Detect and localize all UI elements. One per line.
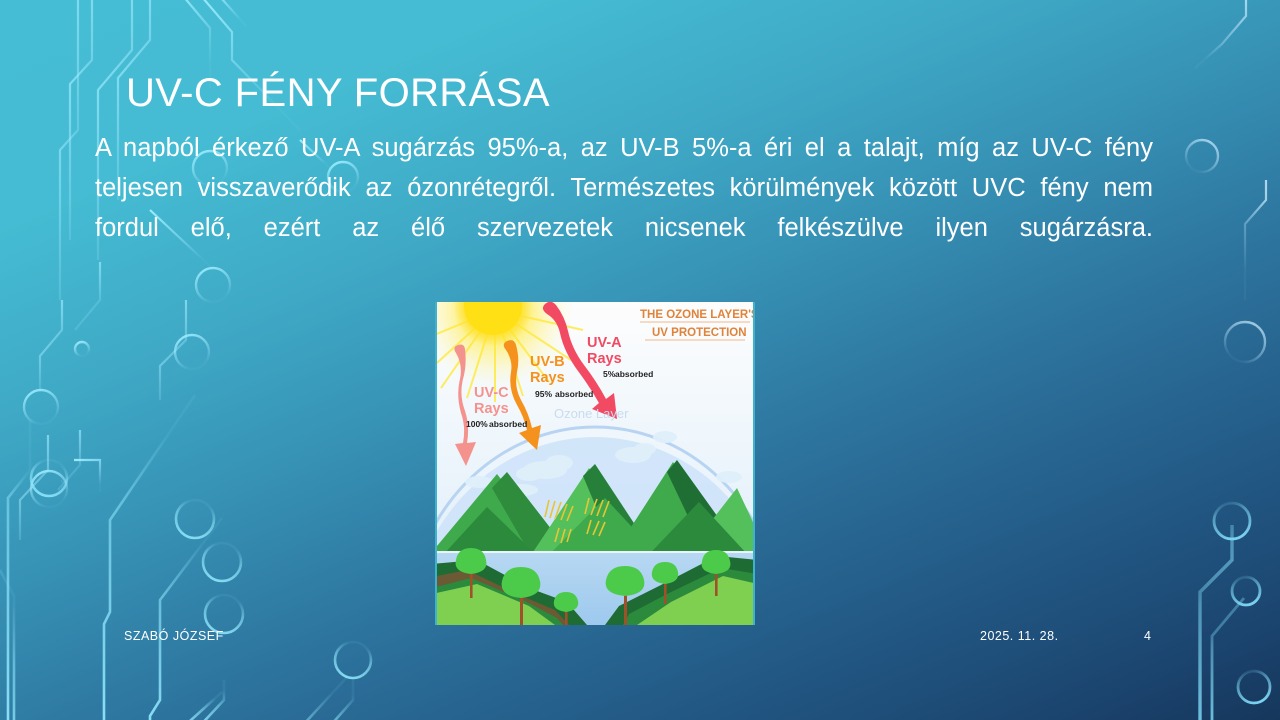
ozone-layer-label: Ozone Layer xyxy=(554,406,629,421)
uv-a-label-line2: Rays xyxy=(587,351,622,367)
ozone-diagram-svg: UV-C Rays 100% absorbed UV-B Rays 95% ab… xyxy=(437,302,753,625)
circuit-trace xyxy=(282,676,348,720)
uv-a-absorbed-word: absorbed xyxy=(615,369,653,379)
diagram-heading-line2: UV PROTECTION xyxy=(652,327,747,339)
uv-c-absorbed-value: 100% xyxy=(466,419,488,429)
ozone-layer-illustration: UV-C Rays 100% absorbed UV-B Rays 95% ab… xyxy=(435,302,755,625)
circuit-traces-top-right xyxy=(1195,0,1272,420)
circuit-trace xyxy=(300,678,353,720)
circuit-node xyxy=(335,642,371,678)
uv-a-absorbed-value: 5% xyxy=(603,369,616,379)
slide: UV-C fény forrása A napból érkező UV-A s… xyxy=(0,0,1280,720)
uv-b-absorbed-word: absorbed xyxy=(555,389,593,399)
circuit-nodes-top-right xyxy=(1186,140,1265,362)
footer-page-number: 4 xyxy=(1144,629,1151,643)
circuit-traces-bottom-left xyxy=(0,390,353,720)
uv-c-label-line2: Rays xyxy=(474,401,509,417)
page-title: UV-C fény forrása xyxy=(126,70,1146,116)
footer-author: SZABÓ JÓZSEF xyxy=(124,629,224,643)
circuit-traces-bottom-right xyxy=(1200,525,1254,720)
footer-date: 2025. 11. 28. xyxy=(980,629,1059,643)
uv-c-label-line1: UV-C xyxy=(474,385,509,401)
uv-c-absorbed-word: absorbed xyxy=(489,419,527,429)
circuit-nodes-bottom-left xyxy=(31,460,371,720)
circuit-nodes-bottom-right xyxy=(1214,503,1270,703)
diagram-heading-line1: THE OZONE LAYER'S xyxy=(640,309,753,321)
uv-b-label-line2: Rays xyxy=(530,370,565,386)
uv-b-absorbed-value: 95% xyxy=(535,389,552,399)
uv-b-label-line1: UV-B xyxy=(530,354,565,370)
body-paragraph: A napból érkező UV-A sugárzás 95%-a, az … xyxy=(95,128,1153,288)
uv-a-label-line1: UV-A xyxy=(587,335,622,351)
